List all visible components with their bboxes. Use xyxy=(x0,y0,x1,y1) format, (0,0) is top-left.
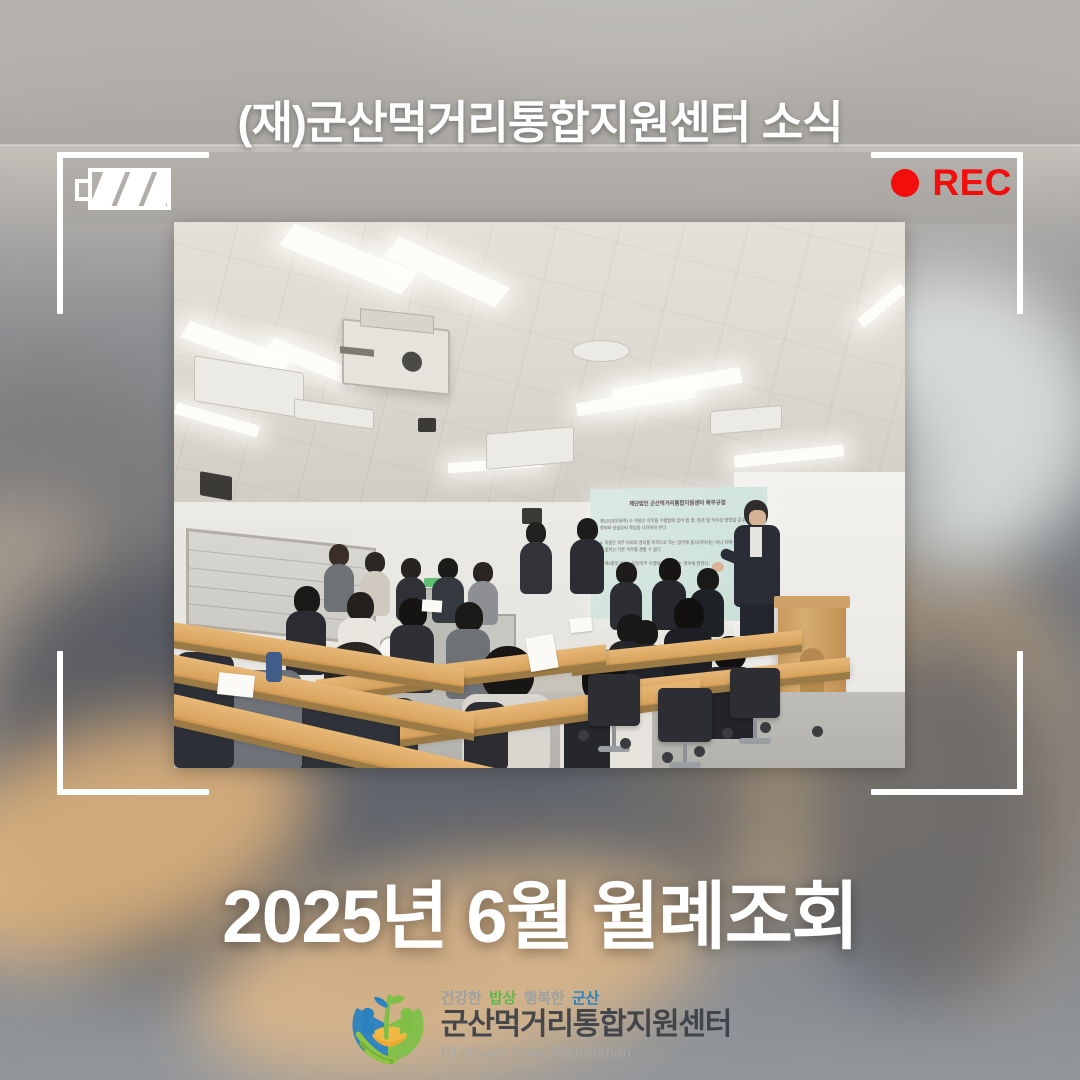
bracket-bottom-right-vertical xyxy=(1017,651,1023,795)
battery-terminal xyxy=(75,179,88,201)
logo-text-block: 건강한 밥상 행복한 군산 군산먹거리통합지원센터 GUNSAN Food Fo… xyxy=(441,991,731,1060)
organization-logo: 건강한 밥상 행복한 군산 군산먹거리통합지원센터 GUNSAN Food Fo… xyxy=(0,982,1080,1068)
handout xyxy=(422,599,443,612)
bracket-top-right-horizontal xyxy=(871,152,1023,158)
handout xyxy=(217,672,255,698)
ceiling-projector xyxy=(342,318,450,395)
logo-tagline-part-3: 행복한 xyxy=(524,990,568,1007)
logo-tagline-part-2: 밥상 xyxy=(489,990,520,1007)
logo-tagline-part-4: 군산 xyxy=(572,990,599,1007)
water-bottle xyxy=(266,652,282,682)
attendee xyxy=(520,522,552,592)
chair xyxy=(658,688,712,742)
rec-label: REC xyxy=(932,164,1012,201)
battery-body xyxy=(88,168,171,210)
record-dot-icon xyxy=(891,169,919,197)
chair xyxy=(588,674,640,726)
poster-card: (재)군산먹거리통합지원센터 소식 REC xyxy=(0,0,1080,1080)
page-title: (재)군산먹거리통합지원센터 소식 xyxy=(0,86,1080,151)
attendee xyxy=(570,518,604,592)
gunsan-food-foundation-emblem xyxy=(349,986,427,1064)
bracket-top-left-vertical xyxy=(57,152,63,314)
handout xyxy=(569,617,592,633)
logo-organization-subtitle: GUNSAN Food Foundation xyxy=(441,1045,731,1060)
bracket-top-right-vertical xyxy=(1017,152,1023,314)
bracket-top-left-horizontal xyxy=(57,152,209,158)
bracket-bottom-left-vertical xyxy=(57,651,63,795)
main-photo: 재단법인 군산먹거리통합지원센터 복무규정 제1조(복무원칙) ① 직원은 직무… xyxy=(174,222,905,768)
handout xyxy=(525,634,558,672)
viewfinder-tint xyxy=(57,152,1023,224)
battery-icon xyxy=(75,168,171,210)
chair xyxy=(730,668,780,718)
bracket-bottom-right-horizontal xyxy=(871,789,1023,795)
logo-tagline: 건강한 밥상 행복한 군산 xyxy=(441,991,731,1006)
logo-tagline-part-1: 건강한 xyxy=(441,990,485,1007)
presenter xyxy=(730,500,784,636)
logo-organization-name: 군산먹거리통합지원센터 xyxy=(441,1010,731,1040)
bracket-bottom-left-horizontal xyxy=(57,789,209,795)
event-title: 2025년 6월 월례조회 xyxy=(0,857,1080,964)
rec-indicator: REC xyxy=(891,164,1012,201)
